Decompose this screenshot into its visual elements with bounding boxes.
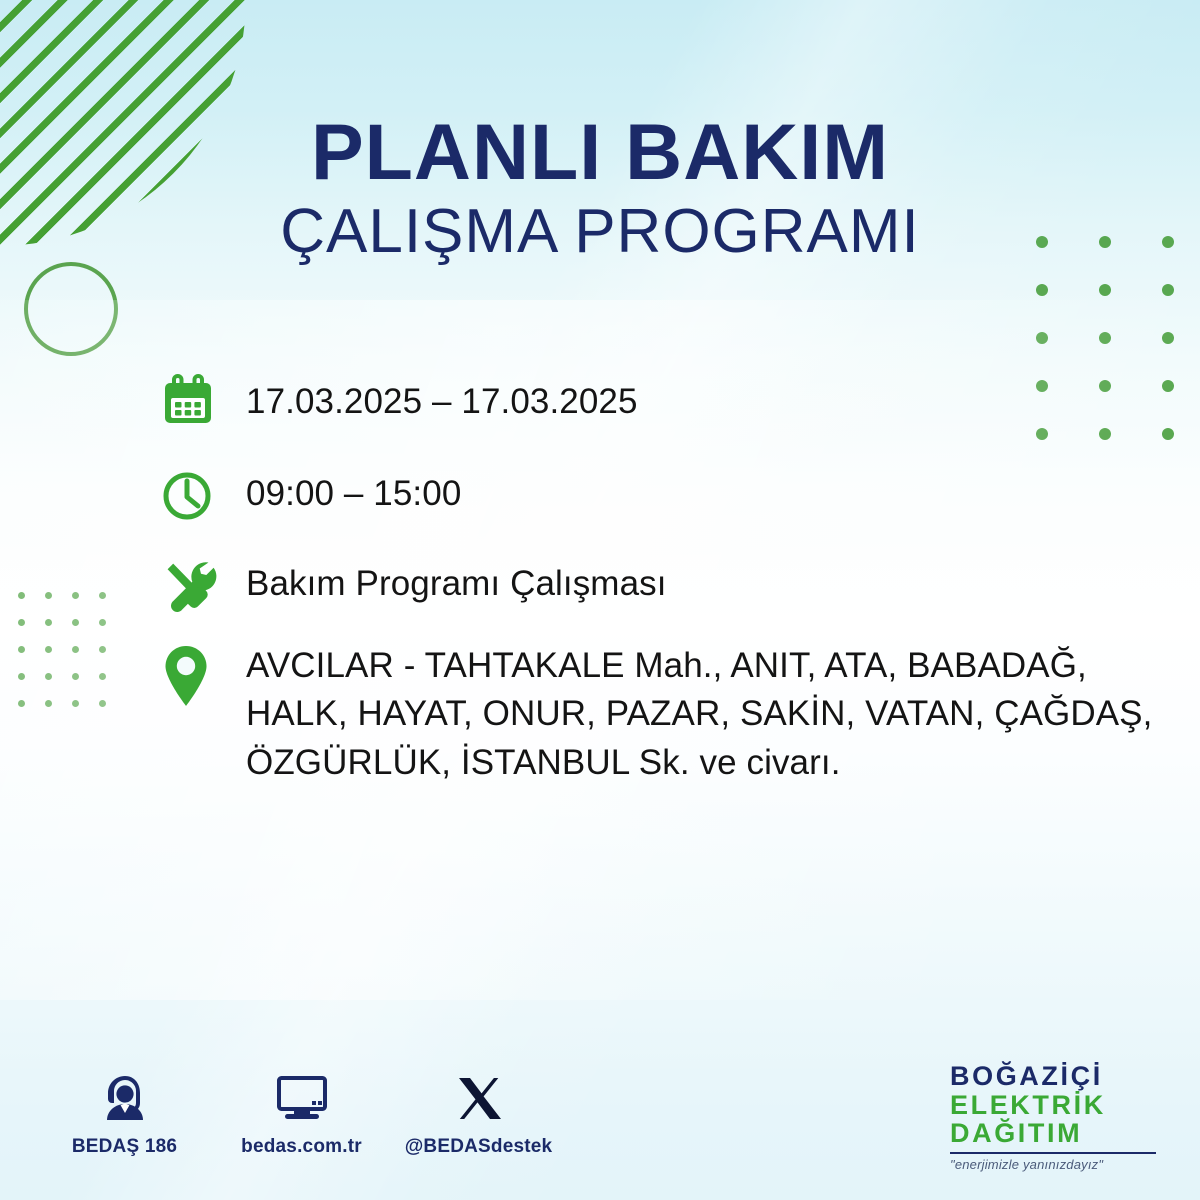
contact-phone-label: BEDAŞ 186 <box>72 1136 177 1158</box>
contact-phone[interactable]: BEDAŞ 186 <box>52 1068 197 1158</box>
brand-line-elektrik: ELEKTRİK <box>950 1091 1160 1120</box>
contact-social[interactable]: @BEDASdestek <box>406 1068 551 1158</box>
brand-line-bogazici: BOĞAZİÇİ <box>950 1062 1160 1091</box>
work-type-value: Bakım Programı Çalışması <box>246 556 667 608</box>
dot-grid-left-decoration <box>18 592 126 727</box>
contact-website-label: bedas.com.tr <box>241 1136 362 1158</box>
poster-canvas: PLANLI BAKIM ÇALIŞMA PROGRAMI 17 <box>0 0 1200 1200</box>
page-title: PLANLI BAKIM ÇALIŞMA PROGRAMI <box>0 112 1200 266</box>
brand-logo: BOĞAZİÇİ ELEKTRİK DAĞITIM "enerjimizle y… <box>950 1062 1160 1172</box>
map-pin-icon <box>160 642 246 710</box>
tools-icon <box>160 556 246 614</box>
location-value: AVCILAR - TAHTAKALE Mah., ANIT, ATA, BAB… <box>246 642 1170 787</box>
brand-tagline: "enerjimizle yanınızdayız" <box>950 1157 1160 1172</box>
clock-icon <box>160 466 246 524</box>
info-row-date: 17.03.2025 – 17.03.2025 <box>160 372 1170 430</box>
info-row-work-type: Bakım Programı Çalışması <box>160 556 1170 614</box>
info-row-location: AVCILAR - TAHTAKALE Mah., ANIT, ATA, BAB… <box>160 642 1170 787</box>
brand-line-dagitim: DAĞITIM <box>950 1119 1160 1148</box>
calendar-icon <box>160 372 246 430</box>
monitor-icon <box>272 1068 332 1126</box>
contact-social-label: @BEDASdestek <box>405 1136 553 1158</box>
title-main: PLANLI BAKIM <box>0 112 1200 191</box>
info-row-time: 09:00 – 15:00 <box>160 466 1170 524</box>
x-twitter-icon <box>453 1068 505 1126</box>
brand-divider <box>950 1152 1156 1154</box>
headset-support-icon <box>97 1068 153 1126</box>
title-subtitle: ÇALIŞMA PROGRAMI <box>0 197 1200 266</box>
footer-contacts: BEDAŞ 186 bedas.com.tr <box>52 1068 583 1158</box>
date-range-value: 17.03.2025 – 17.03.2025 <box>246 372 638 426</box>
time-range-value: 09:00 – 15:00 <box>246 466 461 518</box>
circle-outline-decoration <box>24 262 118 356</box>
contact-website[interactable]: bedas.com.tr <box>229 1068 374 1158</box>
info-list: 17.03.2025 – 17.03.2025 09:00 – 15:00 <box>160 372 1170 807</box>
